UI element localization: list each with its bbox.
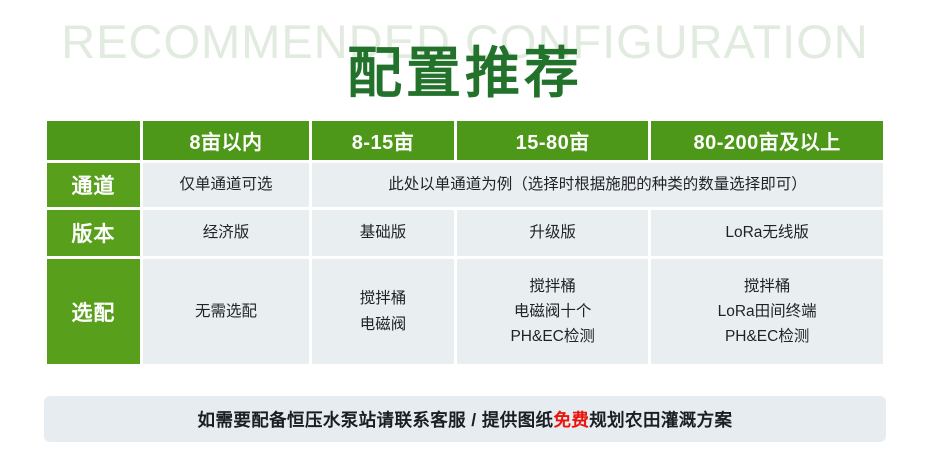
footer-banner: 如需要配备恒压水泵站请联系客服 / 提供图纸免费规划农田灌溉方案 [44, 396, 886, 442]
cell-version-c2: 基础版 [312, 210, 454, 256]
cell-version-c4: LoRa无线版 [651, 210, 883, 256]
cell-line: 电磁阀十个 [457, 299, 648, 324]
cell-line: PH&EC检测 [457, 324, 648, 349]
cell-version-c1: 经济版 [143, 210, 309, 256]
row-label-version: 版本 [47, 210, 140, 256]
footer-highlight-free: 免费 [553, 410, 589, 430]
page-header: RECOMMENDED CONFIGURATION 配置推荐 [0, 0, 930, 112]
page-title: 配置推荐 [0, 28, 930, 108]
column-header-3: 15-80亩 [457, 121, 648, 160]
column-header-1: 8亩以内 [143, 121, 309, 160]
cell-optional-c2: 搅拌桶 电磁阀 [312, 259, 454, 364]
cell-version-c3: 升级版 [457, 210, 648, 256]
cell-channel-c1: 仅单通道可选 [143, 163, 309, 207]
configuration-table: 8亩以内 8-15亩 15-80亩 80-200亩及以上 通道 仅单通道可选 此… [44, 118, 886, 367]
cell-line: LoRa田间终端 [651, 299, 883, 324]
footer-text-before: 如需要配备恒压水泵站请联系客服 / 提供图纸 [198, 410, 554, 430]
column-header-4: 80-200亩及以上 [651, 121, 883, 160]
cell-channel-merged: 此处以单通道为例（选择时根据施肥的种类的数量选择即可） [312, 163, 883, 207]
cell-line: PH&EC检测 [651, 324, 883, 349]
column-header-2: 8-15亩 [312, 121, 454, 160]
cell-optional-c4: 搅拌桶 LoRa田间终端 PH&EC检测 [651, 259, 883, 364]
table-row: 通道 仅单通道可选 此处以单通道为例（选择时根据施肥的种类的数量选择即可） [47, 163, 883, 207]
footer-note: 如需要配备恒压水泵站请联系客服 / 提供图纸免费规划农田灌溉方案 [198, 407, 733, 432]
table-corner-cell [47, 121, 140, 160]
cell-line: 无需选配 [143, 299, 309, 324]
table-row: 选配 无需选配 搅拌桶 电磁阀 搅拌桶 电磁阀十个 PH&EC检测 [47, 259, 883, 364]
footer-text-after: 规划农田灌溉方案 [589, 410, 732, 430]
cell-optional-c1: 无需选配 [143, 259, 309, 364]
row-label-optional: 选配 [47, 259, 140, 364]
table-row: 版本 经济版 基础版 升级版 LoRa无线版 [47, 210, 883, 256]
table-header-row: 8亩以内 8-15亩 15-80亩 80-200亩及以上 [47, 121, 883, 160]
cell-line: 搅拌桶 [651, 274, 883, 299]
cell-optional-c3: 搅拌桶 电磁阀十个 PH&EC检测 [457, 259, 648, 364]
cell-line: 电磁阀 [312, 312, 454, 337]
row-label-channel: 通道 [47, 163, 140, 207]
cell-line: 搅拌桶 [312, 286, 454, 311]
cell-line: 搅拌桶 [457, 274, 648, 299]
